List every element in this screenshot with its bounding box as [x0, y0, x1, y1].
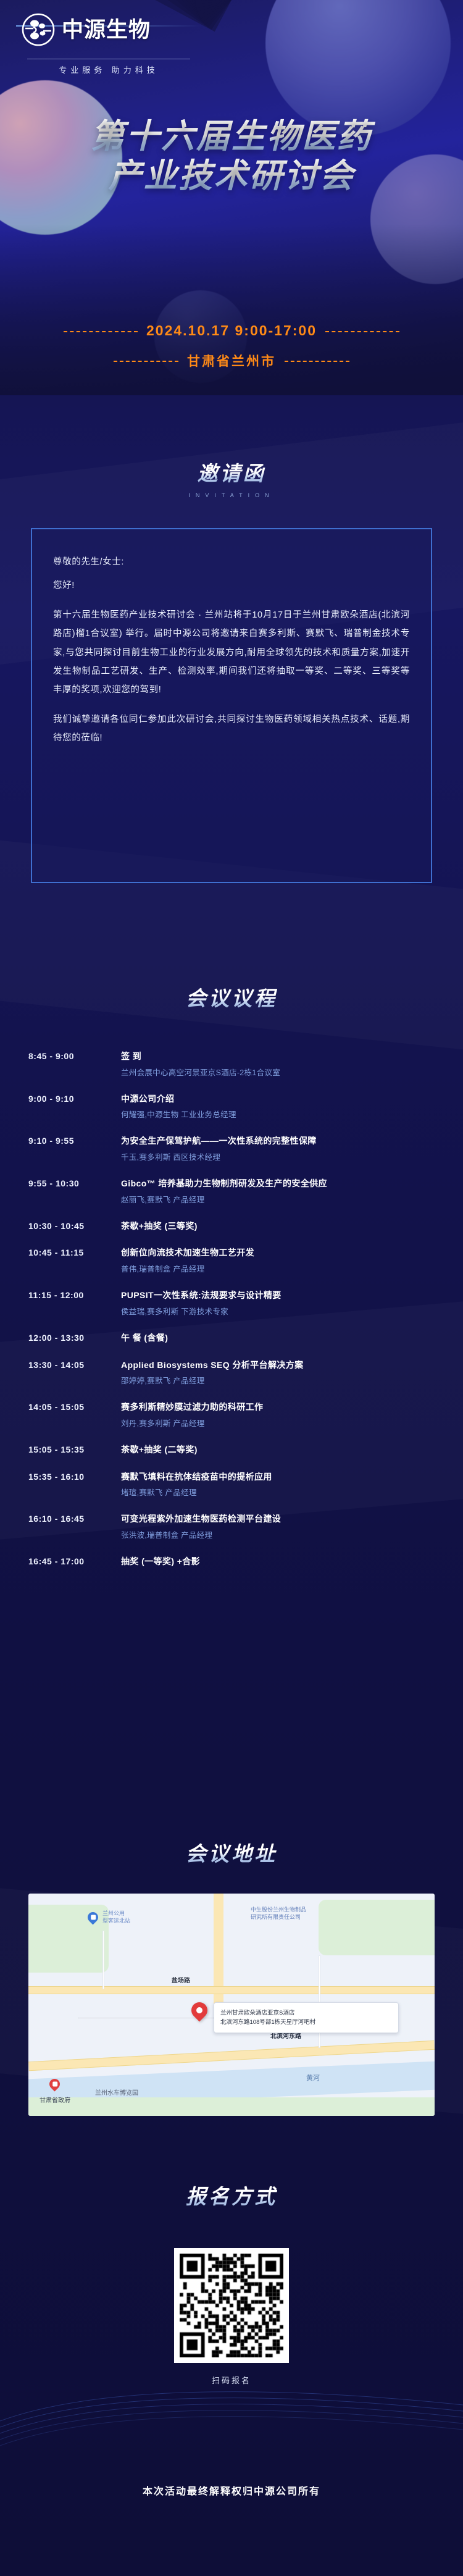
- invitation-paragraph-1: 第十六届生物医药产业技术研讨会 · 兰州站将于10月17日于兰州甘肃欧朵酒店(北…: [53, 606, 410, 699]
- agenda-topic: 抽奖 (一等奖) +合影: [121, 1555, 435, 1569]
- hero-meta: 2024.10.17 9:00-17:00 甘肃省兰州市: [0, 320, 463, 370]
- agenda-body: 茶歇+抽奖 (二等奖): [121, 1443, 435, 1457]
- signup-heading: 报名方式: [0, 2180, 463, 2210]
- agenda-row: 8:45 - 9:00签 到兰州会展中心高空河景亚京S酒店-2栋1合议室: [0, 1050, 463, 1079]
- map-label-yanchang-road: 盐场路: [172, 1975, 190, 1984]
- agenda-topic: 茶歇+抽奖 (二等奖): [121, 1443, 435, 1457]
- agenda-time: 11:15 - 12:00: [28, 1289, 121, 1318]
- agenda-body: 为安全生产保驾护航——一次性系统的完整性保障千玉,赛多利斯 西区技术经理: [121, 1135, 435, 1164]
- signup-heading-label: 报名方式: [186, 2180, 277, 2210]
- agenda-time: 16:45 - 17:00: [28, 1555, 121, 1569]
- agenda-time: 10:45 - 11:15: [28, 1246, 121, 1275]
- map-road-vertical: [214, 1894, 223, 2017]
- map-label-waterwheel-park: 兰州水车博览园: [95, 2087, 138, 2097]
- agenda-row: 16:10 - 16:45可变光程紫外加速生物医药检测平台建设张洪波,瑞普制盒 …: [0, 1512, 463, 1542]
- agenda-row: 16:45 - 17:00抽奖 (一等奖) +合影: [0, 1555, 463, 1569]
- agenda-speaker: 千玉,赛多利斯 西区技术经理: [121, 1151, 435, 1164]
- agenda-time: 9:00 - 9:10: [28, 1093, 121, 1122]
- invitation-greeting: 您好!: [53, 576, 410, 595]
- map-label-gov: 甘肃省政府: [40, 2095, 70, 2104]
- agenda-time: 9:10 - 9:55: [28, 1135, 121, 1164]
- agenda-row: 9:55 - 10:30Gibco™ 培养基助力生物制剂研发及生产的安全供应赵丽…: [0, 1177, 463, 1206]
- agenda-topic: 可变光程紫外加速生物医药检测平台建设: [121, 1512, 435, 1526]
- agenda-speaker: 刘丹,赛多利斯 产品经理: [121, 1417, 435, 1430]
- map-green-area: [319, 1900, 435, 1955]
- agenda-topic: 创新位向流技术加速生物工艺开发: [121, 1246, 435, 1260]
- agenda-row: 10:45 - 11:15创新位向流技术加速生物工艺开发普伟,瑞普制盒 产品经理: [0, 1246, 463, 1275]
- map-label-yellow-river: 黄河: [306, 2073, 320, 2083]
- brand-logo: 中源生物: [21, 12, 151, 47]
- invitation-heading-en: INVITATION: [0, 492, 463, 498]
- agenda-row: 15:05 - 15:35茶歇+抽奖 (二等奖): [0, 1443, 463, 1457]
- agenda-speaker: 堵瑄,赛默飞 产品经理: [121, 1487, 435, 1499]
- map-minor-road: [78, 2017, 214, 2019]
- agenda-time: 16:10 - 16:45: [28, 1512, 121, 1542]
- signup-section: 扫码报名: [0, 2248, 463, 2386]
- venue-address-line2: 北滨河东路108号部1栋天星厅河吧村: [220, 2018, 392, 2027]
- invitation-paragraph-2: 我们诚挚邀请各位同仁参加此次研讨会,共同探讨生物医药领域相关热点技术、话题,期待…: [53, 710, 410, 747]
- agenda-time: 12:00 - 13:30: [28, 1332, 121, 1345]
- venue-map[interactable]: 兰州公用型客运北站 中生股份兰州生物制品研究所有限责任公司 盐场路 北滨河东路 …: [28, 1894, 435, 2116]
- invitation-salutation: 尊敬的先生/女士:: [53, 553, 410, 571]
- qr-caption: 扫码报名: [0, 2374, 463, 2386]
- invitation-heading-zh: 邀请函: [198, 457, 266, 487]
- agenda-speaker: 赵丽飞,赛默飞 产品经理: [121, 1194, 435, 1206]
- agenda-body: 中源公司介绍何耀强,中源生物 工业业务总经理: [121, 1093, 435, 1122]
- agenda-topic: 茶歇+抽奖 (三等奖): [121, 1220, 435, 1233]
- event-date: 2024.10.17 9:00-17:00: [146, 320, 317, 342]
- agenda-body: 茶歇+抽奖 (三等奖): [121, 1220, 435, 1233]
- agenda-time: 15:05 - 15:35: [28, 1443, 121, 1457]
- agenda-heading-label: 会议议程: [186, 982, 277, 1012]
- agenda-time: 13:30 - 14:05: [28, 1359, 121, 1388]
- agenda-topic: 赛默飞填料在抗体结疫苗中的提析应用: [121, 1471, 435, 1484]
- agenda-topic: 为安全生产保驾护航——一次性系统的完整性保障: [121, 1135, 435, 1148]
- agenda-time: 15:35 - 16:10: [28, 1471, 121, 1500]
- agenda-row: 12:00 - 13:30午 餐 (含餐): [0, 1332, 463, 1345]
- agenda-body: 午 餐 (含餐): [121, 1332, 435, 1345]
- invitation-card: 尊敬的先生/女士: 您好! 第十六届生物医药产业技术研讨会 · 兰州站将于10月…: [31, 528, 432, 883]
- agenda-speaker: 邵婷婷,赛默飞 产品经理: [121, 1375, 435, 1387]
- venue-heading-label: 会议地址: [186, 1837, 277, 1867]
- agenda-body: 抽奖 (一等奖) +合影: [121, 1555, 435, 1569]
- agenda-body: Gibco™ 培养基助力生物制剂研发及生产的安全供应赵丽飞,赛默飞 产品经理: [121, 1177, 435, 1206]
- decorative-wave: [0, 2384, 463, 2452]
- agenda-topic: PUPSIT一次性系统:法规要求与设计精要: [121, 1289, 435, 1303]
- map-label-bus-station: 兰州公用型客运北站: [102, 1910, 130, 1924]
- venue-heading: 会议地址: [0, 1837, 463, 1867]
- agenda-time: 9:55 - 10:30: [28, 1177, 121, 1206]
- map-road-horizontal: [28, 1986, 435, 1994]
- agenda-speaker: 何耀强,中源生物 工业业务总经理: [121, 1109, 435, 1121]
- brand-name: 中源生物: [62, 19, 151, 41]
- qr-code-icon[interactable]: [174, 2248, 289, 2363]
- agenda-time: 14:05 - 15:05: [28, 1401, 121, 1430]
- agenda-speaker: 普伟,瑞普制盒 产品经理: [121, 1263, 435, 1275]
- invitation-heading: 邀请函 INVITATION: [0, 457, 463, 498]
- map-green-area: [28, 2097, 435, 2116]
- hero-banner: 中源生物 专业服务 助力科技 第十六届生物医药 产业技术研讨会 2024.10.…: [0, 0, 463, 408]
- company-circle-logo-icon: [21, 12, 56, 47]
- agenda-body: 签 到兰州会展中心高空河景亚京S酒店-2栋1合议室: [121, 1050, 435, 1079]
- event-city: 甘肃省兰州市: [187, 351, 276, 370]
- agenda-body: 创新位向流技术加速生物工艺开发普伟,瑞普制盒 产品经理: [121, 1246, 435, 1275]
- venue-address-line1: 兰州甘肃欧朵酒店亚京S酒店: [220, 2008, 392, 2018]
- agenda-row: 14:05 - 15:05赛多利斯精妙膜过滤力助的科研工作刘丹,赛多利斯 产品经…: [0, 1401, 463, 1430]
- hero-title-line1: 第十六届生物医药: [0, 117, 463, 157]
- agenda-body: 赛默飞填料在抗体结疫苗中的提析应用堵瑄,赛默飞 产品经理: [121, 1471, 435, 1500]
- agenda-row: 11:15 - 12:00PUPSIT一次性系统:法规要求与设计精要侯益瑞,赛多…: [0, 1289, 463, 1318]
- agenda-body: Applied Biosystems SEQ 分析平台解决方案邵婷婷,赛默飞 产…: [121, 1359, 435, 1388]
- agenda-topic: 午 餐 (含餐): [121, 1332, 435, 1345]
- agenda-speaker: 兰州会展中心高空河景亚京S酒店-2栋1合议室: [121, 1067, 435, 1079]
- agenda-time: 8:45 - 9:00: [28, 1050, 121, 1079]
- map-minor-road: [102, 1931, 104, 1989]
- agenda-speaker: 张洪波,瑞普制盒 产品经理: [121, 1529, 435, 1542]
- brand-slogan: 专业服务 助力科技: [27, 59, 190, 75]
- agenda-time: 10:30 - 10:45: [28, 1220, 121, 1233]
- agenda-topic: Applied Biosystems SEQ 分析平台解决方案: [121, 1359, 435, 1372]
- agenda-topic: 中源公司介绍: [121, 1093, 435, 1106]
- agenda-topic: 赛多利斯精妙膜过滤力助的科研工作: [121, 1401, 435, 1414]
- agenda-body: PUPSIT一次性系统:法规要求与设计精要侯益瑞,赛多利斯 下游技术专家: [121, 1289, 435, 1318]
- agenda-list: 8:45 - 9:00签 到兰州会展中心高空河景亚京S酒店-2栋1合议室9:00…: [0, 1050, 463, 1582]
- agenda-topic: Gibco™ 培养基助力生物制剂研发及生产的安全供应: [121, 1177, 435, 1191]
- agenda-speaker: 侯益瑞,赛多利斯 下游技术专家: [121, 1306, 435, 1318]
- agenda-row: 13:30 - 14:05Applied Biosystems SEQ 分析平台…: [0, 1359, 463, 1388]
- footer-disclaimer: 本次活动最终解释权归中源公司所有: [0, 2483, 463, 2498]
- agenda-row: 9:00 - 9:10中源公司介绍何耀强,中源生物 工业业务总经理: [0, 1093, 463, 1122]
- hero-title: 第十六届生物医药 产业技术研讨会: [0, 117, 463, 196]
- map-minor-road: [319, 1955, 320, 2048]
- venue-address-callout: 兰州甘肃欧朵酒店亚京S酒店 北滨河东路108号部1栋天星厅河吧村: [214, 2002, 399, 2033]
- agenda-body: 可变光程紫外加速生物医药检测平台建设张洪波,瑞普制盒 产品经理: [121, 1512, 435, 1542]
- agenda-heading: 会议议程: [0, 982, 463, 1012]
- hero-title-line2: 产业技术研讨会: [0, 157, 463, 196]
- agenda-row: 9:10 - 9:55为安全生产保驾护航——一次性系统的完整性保障千玉,赛多利斯…: [0, 1135, 463, 1164]
- agenda-body: 赛多利斯精妙膜过滤力助的科研工作刘丹,赛多利斯 产品经理: [121, 1401, 435, 1430]
- agenda-row: 10:30 - 10:45茶歇+抽奖 (三等奖): [0, 1220, 463, 1233]
- map-label-institute: 中生股份兰州生物制品研究所有限责任公司: [251, 1906, 306, 1921]
- agenda-topic: 签 到: [121, 1050, 435, 1064]
- agenda-row: 15:35 - 16:10赛默飞填料在抗体结疫苗中的提析应用堵瑄,赛默飞 产品经…: [0, 1471, 463, 1500]
